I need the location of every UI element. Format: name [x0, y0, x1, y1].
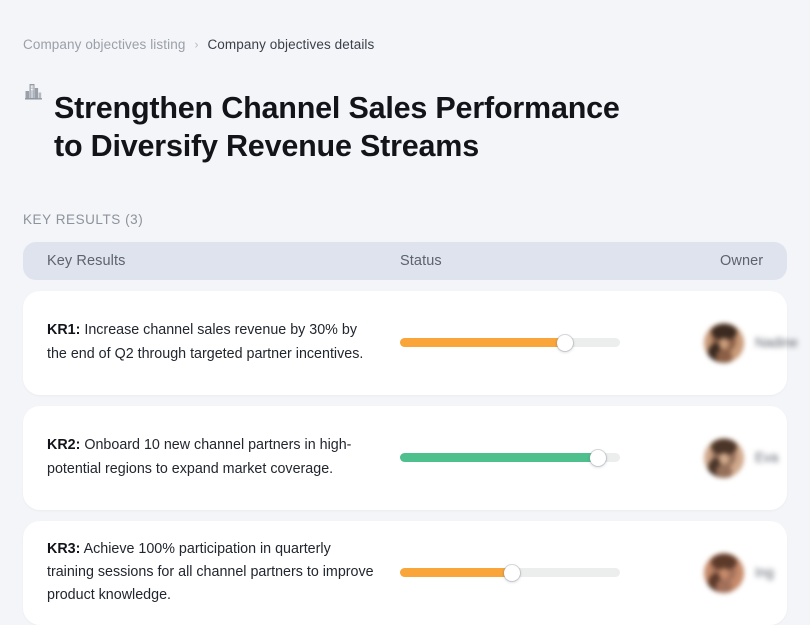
owner-cell: Ing — [660, 553, 787, 593]
progress-slider[interactable] — [400, 338, 620, 347]
key-results-table: Key Results Status Owner KR1: Increase c… — [23, 242, 787, 625]
key-results-section-label: KEY RESULTS (3) — [23, 212, 787, 227]
progress-slider[interactable] — [400, 568, 620, 577]
avatar[interactable] — [704, 438, 744, 478]
owner-name: Ing — [755, 565, 774, 580]
page-title: Strengthen Channel Sales Performance to … — [54, 89, 654, 165]
key-result-text: KR1: Increase channel sales revenue by 3… — [23, 319, 391, 365]
avatar[interactable] — [704, 553, 744, 593]
office-building-icon — [23, 80, 44, 101]
progress-fill — [400, 568, 512, 577]
key-result-description: Increase channel sales revenue by 30% by… — [47, 322, 363, 361]
breadcrumb-parent-link[interactable]: Company objectives listing — [23, 38, 185, 52]
table-row[interactable]: KR3: Achieve 100% participation in quart… — [23, 521, 787, 625]
status-cell — [400, 453, 660, 462]
breadcrumb: Company objectives listing › Company obj… — [23, 0, 787, 52]
column-header-owner: Owner — [660, 253, 787, 269]
status-cell — [400, 568, 660, 577]
table-header-row: Key Results Status Owner — [23, 242, 787, 280]
progress-fill — [400, 453, 598, 462]
owner-cell: Nadine — [660, 323, 798, 363]
owner-cell: Eva — [660, 438, 787, 478]
key-result-text: KR3: Achieve 100% participation in quart… — [23, 538, 391, 607]
progress-slider-handle[interactable] — [504, 565, 520, 581]
table-row[interactable]: KR1: Increase channel sales revenue by 3… — [23, 291, 787, 395]
key-result-text: KR2: Onboard 10 new channel partners in … — [23, 434, 391, 480]
progress-slider[interactable] — [400, 453, 620, 462]
page-title-row: Strengthen Channel Sales Performance to … — [23, 69, 787, 186]
key-result-label: KR2: — [47, 437, 80, 453]
owner-name: Nadine — [755, 335, 798, 350]
table-body: KR1: Increase channel sales revenue by 3… — [23, 291, 787, 625]
key-result-description: Achieve 100% participation in quarterly … — [47, 541, 374, 603]
column-header-status: Status — [400, 253, 660, 269]
progress-slider-handle[interactable] — [590, 450, 606, 466]
column-header-key-results: Key Results — [23, 253, 400, 269]
progress-slider-handle[interactable] — [557, 335, 573, 351]
key-result-label: KR3: — [47, 541, 80, 557]
objective-details-page: Company objectives listing › Company obj… — [0, 0, 810, 546]
status-cell — [400, 338, 660, 347]
key-result-description: Onboard 10 new channel partners in high-… — [47, 437, 351, 476]
owner-name: Eva — [755, 450, 778, 465]
key-result-label: KR1: — [47, 322, 80, 338]
avatar[interactable] — [704, 323, 744, 363]
table-row[interactable]: KR2: Onboard 10 new channel partners in … — [23, 406, 787, 510]
progress-fill — [400, 338, 565, 347]
chevron-right-icon: › — [194, 38, 198, 50]
breadcrumb-current: Company objectives details — [207, 38, 374, 52]
